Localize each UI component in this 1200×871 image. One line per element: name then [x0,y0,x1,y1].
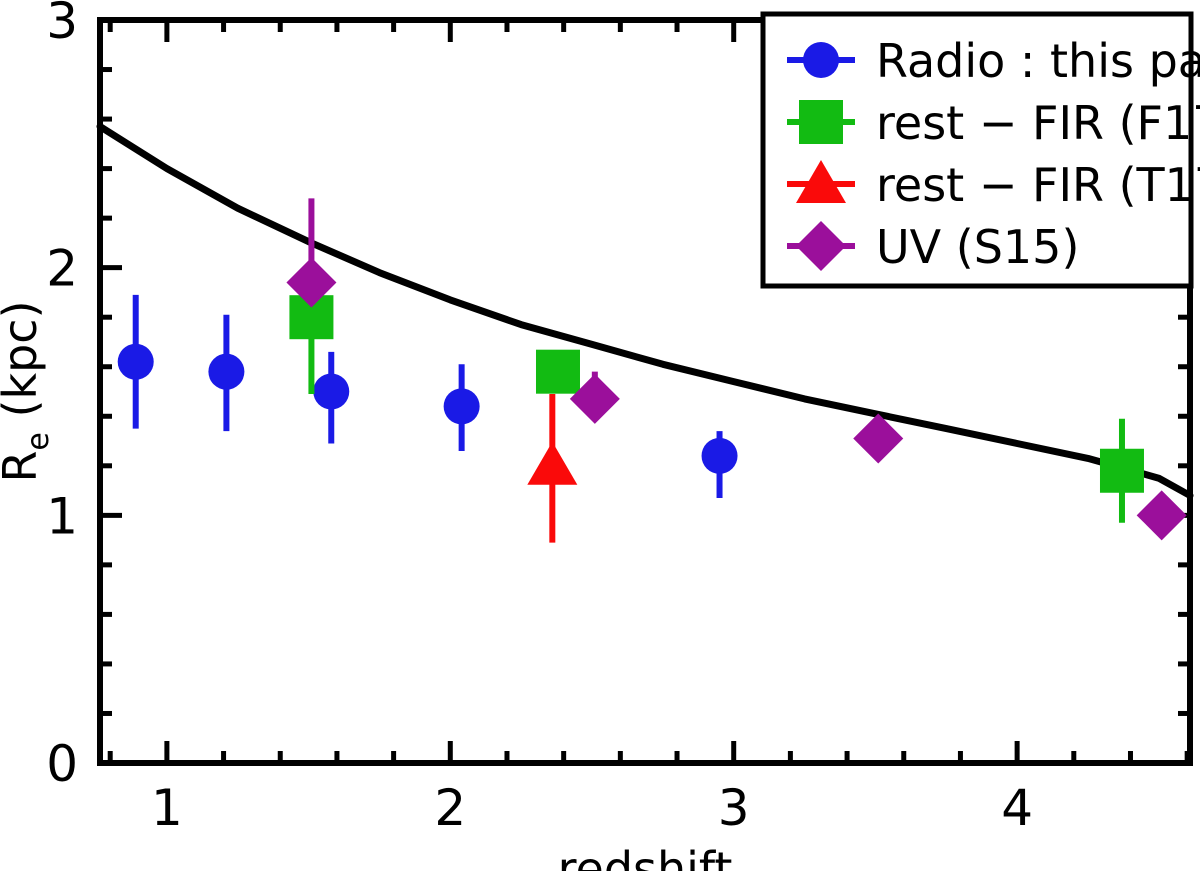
y-tick-label: 0 [46,735,78,793]
x-tick-label: 3 [718,779,750,837]
data-point-circle [313,374,349,410]
data-point-square [536,350,580,394]
legend-label: rest − FIR (F17) [876,96,1200,150]
y-tick-label: 1 [46,487,78,545]
y-tick-label: 3 [46,0,78,50]
x-tick-label: 4 [1001,779,1033,837]
data-point-circle [118,344,154,380]
legend-marker-circle [803,42,839,78]
legend-marker-square [799,100,843,144]
x-tick-label: 1 [151,779,183,837]
x-tick-label: 2 [434,779,466,837]
x-axis-title: redshift [558,842,733,871]
legend[interactable]: Radio : this paperrest − FIR (F17)rest −… [763,14,1200,286]
data-point-circle [208,354,244,390]
y-tick-label: 2 [46,240,78,298]
data-point-square [1100,449,1144,493]
legend-label: rest − FIR (T17) [876,158,1200,212]
legend-label: UV (S15) [876,220,1079,274]
legend-label: Radio : this paper [876,34,1200,88]
data-point-circle [702,438,738,474]
data-point-circle [444,388,480,424]
scatter-plot: 12340123 redshiftRe (kpc) Radio : this p… [0,0,1200,871]
figure-panel: 12340123 redshiftRe (kpc) Radio : this p… [0,0,1200,871]
